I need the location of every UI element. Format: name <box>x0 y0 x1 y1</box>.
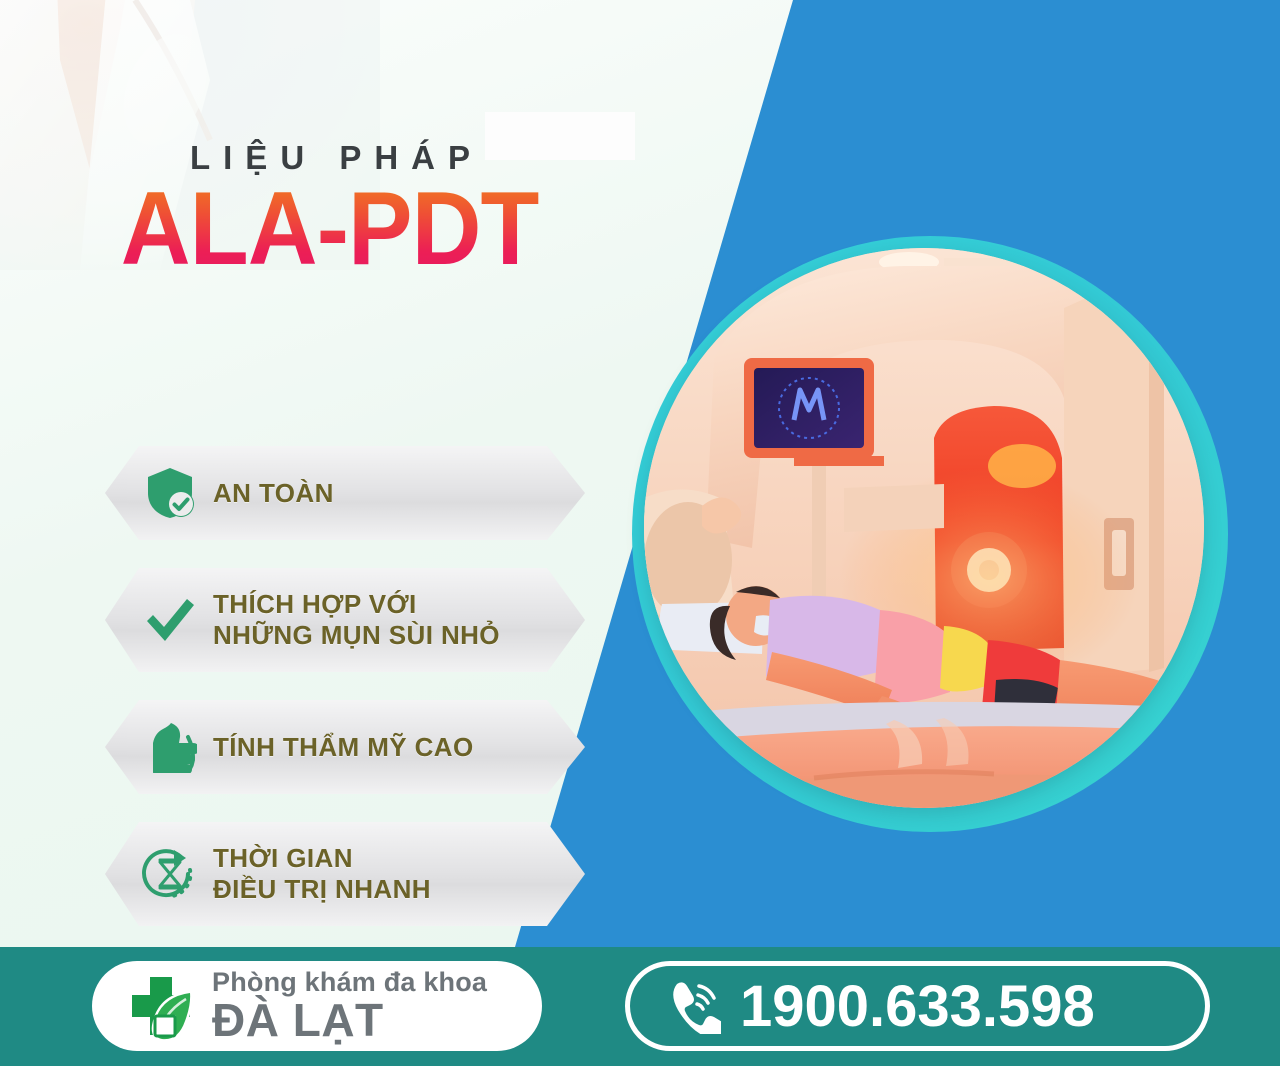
feature-label: TÍNH THẨM MỸ CAO <box>213 732 474 763</box>
treatment-photo <box>644 248 1204 808</box>
clinic-subtitle: Phòng khám đa khoa <box>212 967 487 997</box>
phone-ring-icon <box>662 978 724 1034</box>
feature-badge-an-toan[interactable]: AN TOÀN <box>105 446 585 540</box>
checkmark-icon <box>139 595 201 645</box>
feature-badge-thich-hop[interactable]: THÍCH HỢP VỚI NHỮNG MỤN SÙI NHỎ <box>105 568 585 672</box>
clinic-name: ĐÀ LẠT <box>212 994 384 1046</box>
feature-label: THÍCH HỢP VỚI NHỮNG MỤN SÙI NHỎ <box>213 589 500 650</box>
clinic-name-block: Phòng khám đa khoa ĐÀ LẠT <box>212 968 542 1045</box>
feature-badge-tham-my[interactable]: TÍNH THẨM MỸ CAO <box>105 700 585 794</box>
feature-badge-thoi-gian[interactable]: THỜI GIAN ĐIỀU TRỊ NHANH <box>105 822 585 926</box>
green-cross-leaf-logo-icon <box>118 969 204 1043</box>
feature-list: AN TOÀN THÍCH HỢP VỚI NHỮNG MỤN SÙI NHỎ <box>105 446 585 954</box>
shield-check-icon <box>139 466 201 520</box>
feature-label: AN TOÀN <box>213 478 334 509</box>
feature-label: THỜI GIAN ĐIỀU TRỊ NHANH <box>213 843 431 904</box>
headline-block: LIỆU PHÁP ALA-PDT <box>0 140 660 279</box>
hotline-pill[interactable]: 1900.633.598 <box>625 961 1210 1051</box>
footer-bar: Phòng khám đa khoa ĐÀ LẠT 1900.633.598 <box>0 947 1280 1066</box>
hotline-number: 1900.633.598 <box>740 973 1095 1040</box>
page-title: ALA-PDT <box>121 180 539 279</box>
clock-hourglass-icon <box>139 846 201 902</box>
thumbs-up-icon <box>139 721 201 773</box>
poster-canvas: LIỆU PHÁP ALA-PDT <box>0 0 1280 1066</box>
clinic-brand-pill[interactable]: Phòng khám đa khoa ĐÀ LẠT <box>92 961 542 1051</box>
